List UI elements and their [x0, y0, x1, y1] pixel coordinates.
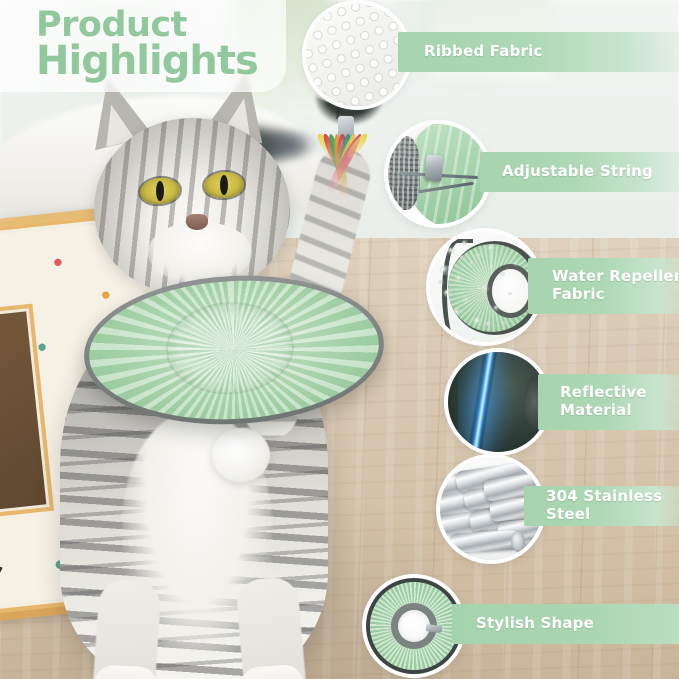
- water-droplet: [488, 246, 494, 251]
- adjustable-cord-lock-icon: [388, 124, 488, 224]
- cat-front-leg-right: [235, 576, 307, 679]
- reflective-material-label-bar: Reflective Material: [538, 374, 679, 430]
- ribbed-texture-bumps: [306, 4, 408, 106]
- cord-lock-toggle: [425, 154, 444, 181]
- water-droplet: [502, 322, 506, 325]
- feature-label: Adjustable String: [502, 163, 653, 181]
- water-droplet: [470, 262, 474, 265]
- feature-label: Ribbed Fabric: [424, 43, 543, 61]
- stainless-steel-label-bar: 304 Stainless Steel: [524, 486, 679, 526]
- water-droplet: [462, 241, 467, 245]
- reflective-stripe-icon: [448, 352, 548, 452]
- water-droplet: [438, 280, 443, 284]
- title-line-2: Highlights: [36, 42, 306, 81]
- cat-pupil-right: [220, 175, 228, 195]
- product-highlights-infographic: Product Highlights Ribbed Fabric Adjusta…: [0, 0, 679, 679]
- adjustable-string-label-bar: Adjustable String: [480, 152, 679, 192]
- stylish-shape-label-bar: Stylish Shape: [452, 604, 679, 644]
- water-droplets-cone-icon: [430, 232, 540, 342]
- water-droplet: [474, 318, 481, 324]
- water-droplet: [476, 254, 481, 258]
- water-droplet: [514, 262, 518, 265]
- cat-pupil-left: [156, 181, 164, 201]
- pom-pom-toy: [212, 428, 270, 482]
- water-droplet: [444, 290, 451, 296]
- cat-muzzle: [148, 222, 252, 284]
- ribbed-fabric-swatch-icon: [306, 4, 408, 106]
- feature-label: Water Repellent Fabric: [552, 268, 679, 303]
- water-droplet: [494, 306, 499, 310]
- water-droplet: [482, 286, 488, 291]
- water-droplet: [508, 292, 512, 295]
- feature-label: Reflective Material: [560, 384, 647, 419]
- feature-label: Stylish Shape: [476, 615, 594, 633]
- ribbed-fabric-label-bar: Ribbed Fabric: [398, 32, 679, 72]
- water-droplet: [464, 298, 469, 302]
- cone-top-view-icon: [366, 578, 462, 674]
- water-droplet: [460, 256, 464, 259]
- rug-tassel: [0, 566, 2, 626]
- cat-recovery-cone-collar: [80, 268, 387, 431]
- water-droplet: [486, 322, 491, 326]
- water-droplet: [448, 248, 455, 254]
- water-droplet: [440, 266, 449, 274]
- cat-nose: [186, 214, 208, 230]
- water-droplet: [454, 310, 460, 315]
- water-droplet: [456, 276, 462, 281]
- water-droplet: [500, 272, 505, 276]
- steel-rod: [450, 530, 521, 553]
- water-repellent-label-bar: Water Repellent Fabric: [528, 258, 679, 314]
- cat-front-leg-left: [92, 578, 162, 679]
- page-title: Product Highlights: [36, 8, 306, 81]
- feature-label: 304 Stainless Steel: [546, 488, 679, 523]
- water-droplets: [430, 232, 540, 342]
